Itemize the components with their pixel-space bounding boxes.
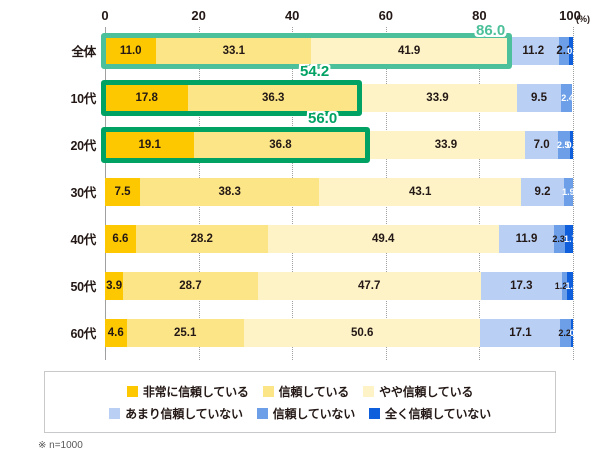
row-label-40s: 40代 bbox=[0, 215, 96, 262]
table-row: 20代 19.1 36.8 33.9 7.0 2.5 0.7 56.0 bbox=[0, 121, 600, 168]
table-row: 30代 7.5 38.3 43.1 9.2 1.9 bbox=[0, 168, 600, 215]
segment-never-trust-label: 1.7 bbox=[564, 225, 577, 253]
segment-never-trust-label: 0.8 bbox=[567, 37, 580, 65]
row-label-50s: 50代 bbox=[0, 262, 96, 309]
chart-container: 0 20 40 60 80 100 (%) 全体 11.0 33.1 41.9 … bbox=[0, 0, 600, 461]
segment-somewhat-trust[interactable]: 43.1 bbox=[319, 178, 521, 206]
legend-item-not-much-trust[interactable]: あまり信頼していない bbox=[109, 405, 243, 422]
segment-very-trust[interactable]: 6.6 bbox=[105, 225, 136, 253]
segment-trust[interactable]: 38.3 bbox=[140, 178, 319, 206]
segment-somewhat-trust[interactable]: 49.4 bbox=[268, 225, 499, 253]
segment-no-trust-label: 2.3 bbox=[552, 225, 565, 253]
segment-no-trust[interactable]: 2.4 bbox=[561, 84, 572, 112]
segment-somewhat-trust[interactable]: 50.6 bbox=[244, 319, 481, 347]
segment-somewhat-trust[interactable]: 33.9 bbox=[367, 131, 526, 159]
segment-not-much-trust[interactable]: 9.5 bbox=[517, 84, 561, 112]
segment-no-trust-label: 1.9 bbox=[562, 178, 575, 206]
row-label-overall: 全体 bbox=[0, 27, 96, 74]
footnote: ※ n=1000 bbox=[38, 440, 83, 451]
stacked-bar-overall: 11.0 33.1 41.9 11.2 2.1 0.8 bbox=[105, 37, 573, 65]
stacked-bar-10s: 17.8 36.3 33.9 9.5 2.4 bbox=[105, 84, 573, 112]
table-row: 40代 6.6 28.2 49.4 11.9 2.3 1.7 bbox=[0, 215, 600, 262]
segment-never-trust-label: 1.2 bbox=[565, 272, 578, 300]
x-tick-20: 20 bbox=[191, 8, 205, 23]
legend-label: 非常に信頼している bbox=[143, 383, 249, 400]
legend-swatch-icon bbox=[127, 386, 138, 397]
legend-row-2: あまり信頼していない 信頼していない 全く信頼していない bbox=[109, 405, 491, 422]
segment-very-trust[interactable]: 11.0 bbox=[105, 37, 156, 65]
segment-very-trust[interactable]: 4.6 bbox=[105, 319, 127, 347]
legend-swatch-icon bbox=[263, 386, 274, 397]
legend-swatch-icon bbox=[369, 408, 380, 419]
stacked-bar-30s: 7.5 38.3 43.1 9.2 1.9 bbox=[105, 178, 573, 206]
segment-never-trust-label: 0.7 bbox=[567, 131, 580, 159]
legend-item-trust[interactable]: 信頼している bbox=[263, 383, 349, 400]
x-tick-0: 0 bbox=[101, 8, 108, 23]
segment-not-much-trust[interactable]: 17.1 bbox=[480, 319, 560, 347]
segment-no-trust-label: 2.4 bbox=[561, 84, 574, 112]
legend-label: やや信頼している bbox=[379, 383, 473, 400]
highlight-label-10s: 54.2 bbox=[300, 63, 329, 80]
legend-label: 信頼していない bbox=[273, 405, 355, 422]
segment-never-trust[interactable]: 0.8 bbox=[569, 37, 573, 65]
row-label-20s: 20代 bbox=[0, 121, 96, 168]
segment-somewhat-trust[interactable]: 41.9 bbox=[311, 37, 507, 65]
legend-item-somewhat-trust[interactable]: やや信頼している bbox=[363, 383, 473, 400]
x-tick-80: 80 bbox=[472, 8, 486, 23]
axis-unit-label: (%) bbox=[576, 14, 590, 24]
segment-trust[interactable]: 36.8 bbox=[194, 131, 366, 159]
stacked-bar-40s: 6.6 28.2 49.4 11.9 2.3 1.7 bbox=[105, 225, 573, 253]
segment-not-much-trust[interactable]: 11.2 bbox=[507, 37, 559, 65]
segment-trust[interactable]: 36.3 bbox=[188, 84, 358, 112]
legend-swatch-icon bbox=[257, 408, 268, 419]
segment-trust[interactable]: 28.2 bbox=[136, 225, 268, 253]
x-tick-40: 40 bbox=[285, 8, 299, 23]
legend: 非常に信頼している 信頼している やや信頼している あまり信頼していない 信頼し… bbox=[44, 371, 556, 433]
legend-item-very-trust[interactable]: 非常に信頼している bbox=[127, 383, 249, 400]
legend-swatch-icon bbox=[363, 386, 374, 397]
table-row: 50代 3.9 28.7 47.7 17.3 1.2 1.2 bbox=[0, 262, 600, 309]
segment-not-much-trust[interactable]: 11.9 bbox=[499, 225, 555, 253]
segment-never-trust[interactable]: 0.7 bbox=[570, 131, 573, 159]
segment-not-much-trust[interactable]: 17.3 bbox=[481, 272, 562, 300]
legend-label: あまり信頼していない bbox=[125, 405, 243, 422]
table-row: 60代 4.6 25.1 50.6 17.1 2.2 0.5 bbox=[0, 309, 600, 356]
highlight-label-20s: 56.0 bbox=[308, 110, 337, 127]
stacked-bar-50s: 3.9 28.7 47.7 17.3 1.2 1.2 bbox=[105, 272, 573, 300]
x-tick-60: 60 bbox=[379, 8, 393, 23]
segment-trust[interactable]: 25.1 bbox=[127, 319, 244, 347]
table-row: 10代 17.8 36.3 33.9 9.5 2.4 54.2 bbox=[0, 74, 600, 121]
bar-rows: 全体 11.0 33.1 41.9 11.2 2.1 0.8 86.0 10代 … bbox=[0, 27, 600, 356]
segment-never-trust[interactable]: 0.5 bbox=[571, 319, 573, 347]
legend-label: 信頼している bbox=[279, 383, 349, 400]
segment-never-trust[interactable]: 1.7 bbox=[565, 225, 573, 253]
segment-somewhat-trust[interactable]: 47.7 bbox=[258, 272, 481, 300]
segment-not-much-trust[interactable]: 7.0 bbox=[525, 131, 558, 159]
legend-item-never-trust[interactable]: 全く信頼していない bbox=[369, 405, 491, 422]
segment-somewhat-trust[interactable]: 33.9 bbox=[358, 84, 517, 112]
legend-swatch-icon bbox=[109, 408, 120, 419]
segment-very-trust[interactable]: 3.9 bbox=[105, 272, 123, 300]
segment-trust[interactable]: 33.1 bbox=[156, 37, 311, 65]
row-label-30s: 30代 bbox=[0, 168, 96, 215]
legend-item-no-trust[interactable]: 信頼していない bbox=[257, 405, 355, 422]
segment-trust[interactable]: 28.7 bbox=[123, 272, 257, 300]
stacked-bar-60s: 4.6 25.1 50.6 17.1 2.2 0.5 bbox=[105, 319, 573, 347]
segment-very-trust[interactable]: 19.1 bbox=[105, 131, 194, 159]
row-label-10s: 10代 bbox=[0, 74, 96, 121]
segment-very-trust[interactable]: 17.8 bbox=[105, 84, 188, 112]
segment-never-trust[interactable]: 1.2 bbox=[567, 272, 573, 300]
row-label-60s: 60代 bbox=[0, 309, 96, 356]
highlight-label-overall: 86.0 bbox=[476, 22, 505, 39]
segment-not-much-trust[interactable]: 9.2 bbox=[521, 178, 564, 206]
segment-very-trust[interactable]: 7.5 bbox=[105, 178, 140, 206]
legend-row-1: 非常に信頼している 信頼している やや信頼している bbox=[127, 383, 473, 400]
stacked-bar-20s: 19.1 36.8 33.9 7.0 2.5 0.7 bbox=[105, 131, 573, 159]
legend-label: 全く信頼していない bbox=[385, 405, 491, 422]
segment-never-trust-label: 0.5 bbox=[570, 319, 583, 347]
segment-no-trust[interactable]: 1.9 bbox=[564, 178, 573, 206]
